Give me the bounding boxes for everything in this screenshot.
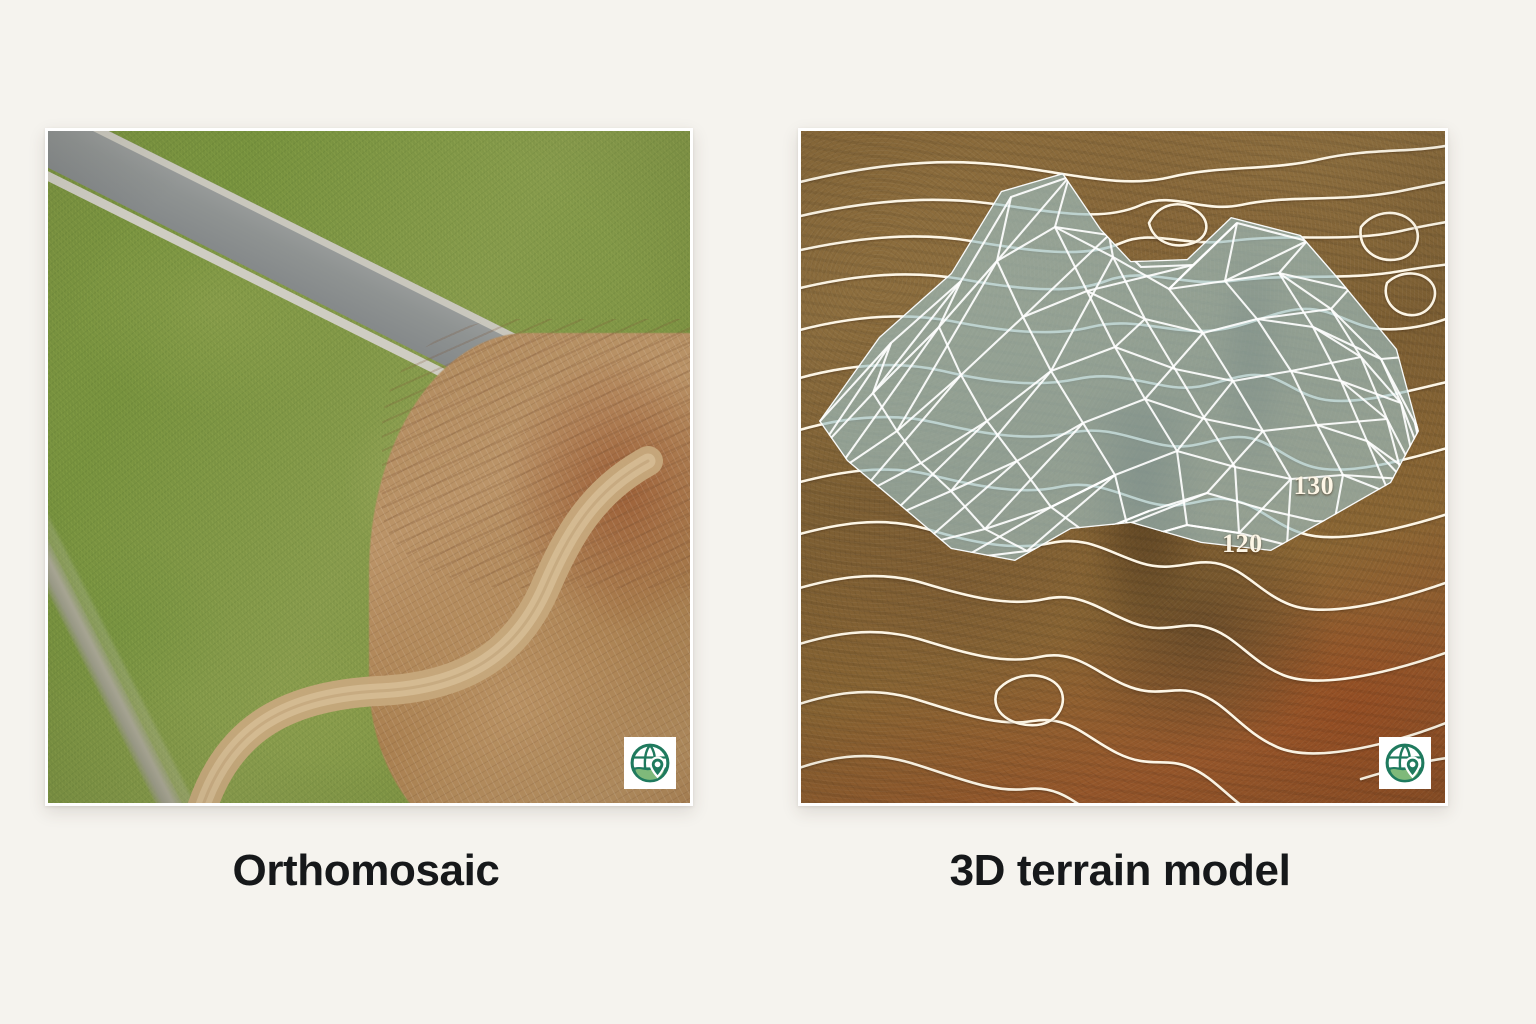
orthomosaic-caption: Orthomosaic [45, 846, 687, 896]
orthomosaic-image [48, 131, 690, 803]
contour-label-120: 120 [1222, 529, 1263, 559]
contour-label-130: 130 [1294, 471, 1335, 501]
orthomosaic-panel[interactable] [45, 128, 693, 806]
dirt-path-overlay [48, 131, 690, 803]
tin-mesh-overlay [801, 131, 1445, 803]
comparison-stage: Orthomosaic [0, 0, 1536, 1024]
terrain-model-image: 130 120 [801, 131, 1445, 803]
terrain-model-caption: 3D terrain model [798, 846, 1442, 896]
terrain-model-panel[interactable]: 130 120 [798, 128, 1448, 806]
globe-pin-icon [1379, 737, 1431, 789]
globe-pin-icon [624, 737, 676, 789]
